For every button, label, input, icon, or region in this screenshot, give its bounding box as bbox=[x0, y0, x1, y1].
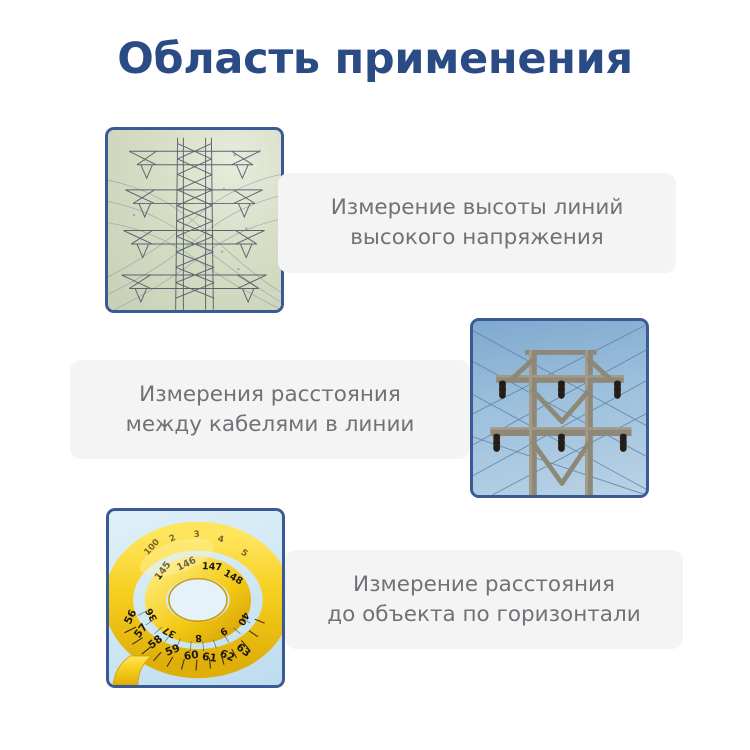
photo-inner-2 bbox=[473, 321, 646, 495]
caption-panel-1: Измерение высоты линий высокого напряжен… bbox=[278, 173, 676, 273]
caption-text-3: Измерение расстояния до объекта по гориз… bbox=[327, 570, 640, 629]
caption-text-2: Измерения расстояния между кабелями в ли… bbox=[126, 380, 415, 439]
measuring-tape-illustration: 56 57 58 59 60 61 62 63 100 2 3 4 5 145 … bbox=[109, 511, 282, 685]
svg-text:60: 60 bbox=[183, 648, 199, 663]
caption-panel-2: Измерения расстояния между кабелями в ли… bbox=[70, 360, 470, 459]
photo-inner-3: 56 57 58 59 60 61 62 63 100 2 3 4 5 145 … bbox=[109, 511, 282, 685]
svg-text:61: 61 bbox=[201, 650, 217, 665]
photo-inner-1 bbox=[108, 130, 281, 310]
svg-text:8: 8 bbox=[195, 632, 203, 643]
image-yellow-measuring-tape: 56 57 58 59 60 61 62 63 100 2 3 4 5 145 … bbox=[106, 508, 285, 688]
svg-text:147: 147 bbox=[202, 561, 223, 573]
caption-panel-3: Измерение расстояния до объекта по гориз… bbox=[285, 550, 683, 649]
image-wooden-hframe-power-pole bbox=[470, 318, 649, 498]
hframe-pole-illustration bbox=[473, 321, 646, 495]
caption-text-1: Измерение высоты линий высокого напряжен… bbox=[331, 193, 624, 252]
lattice-tower-illustration bbox=[108, 130, 281, 310]
page-title: Область применения bbox=[0, 34, 750, 84]
image-high-voltage-lattice-tower bbox=[105, 127, 284, 313]
